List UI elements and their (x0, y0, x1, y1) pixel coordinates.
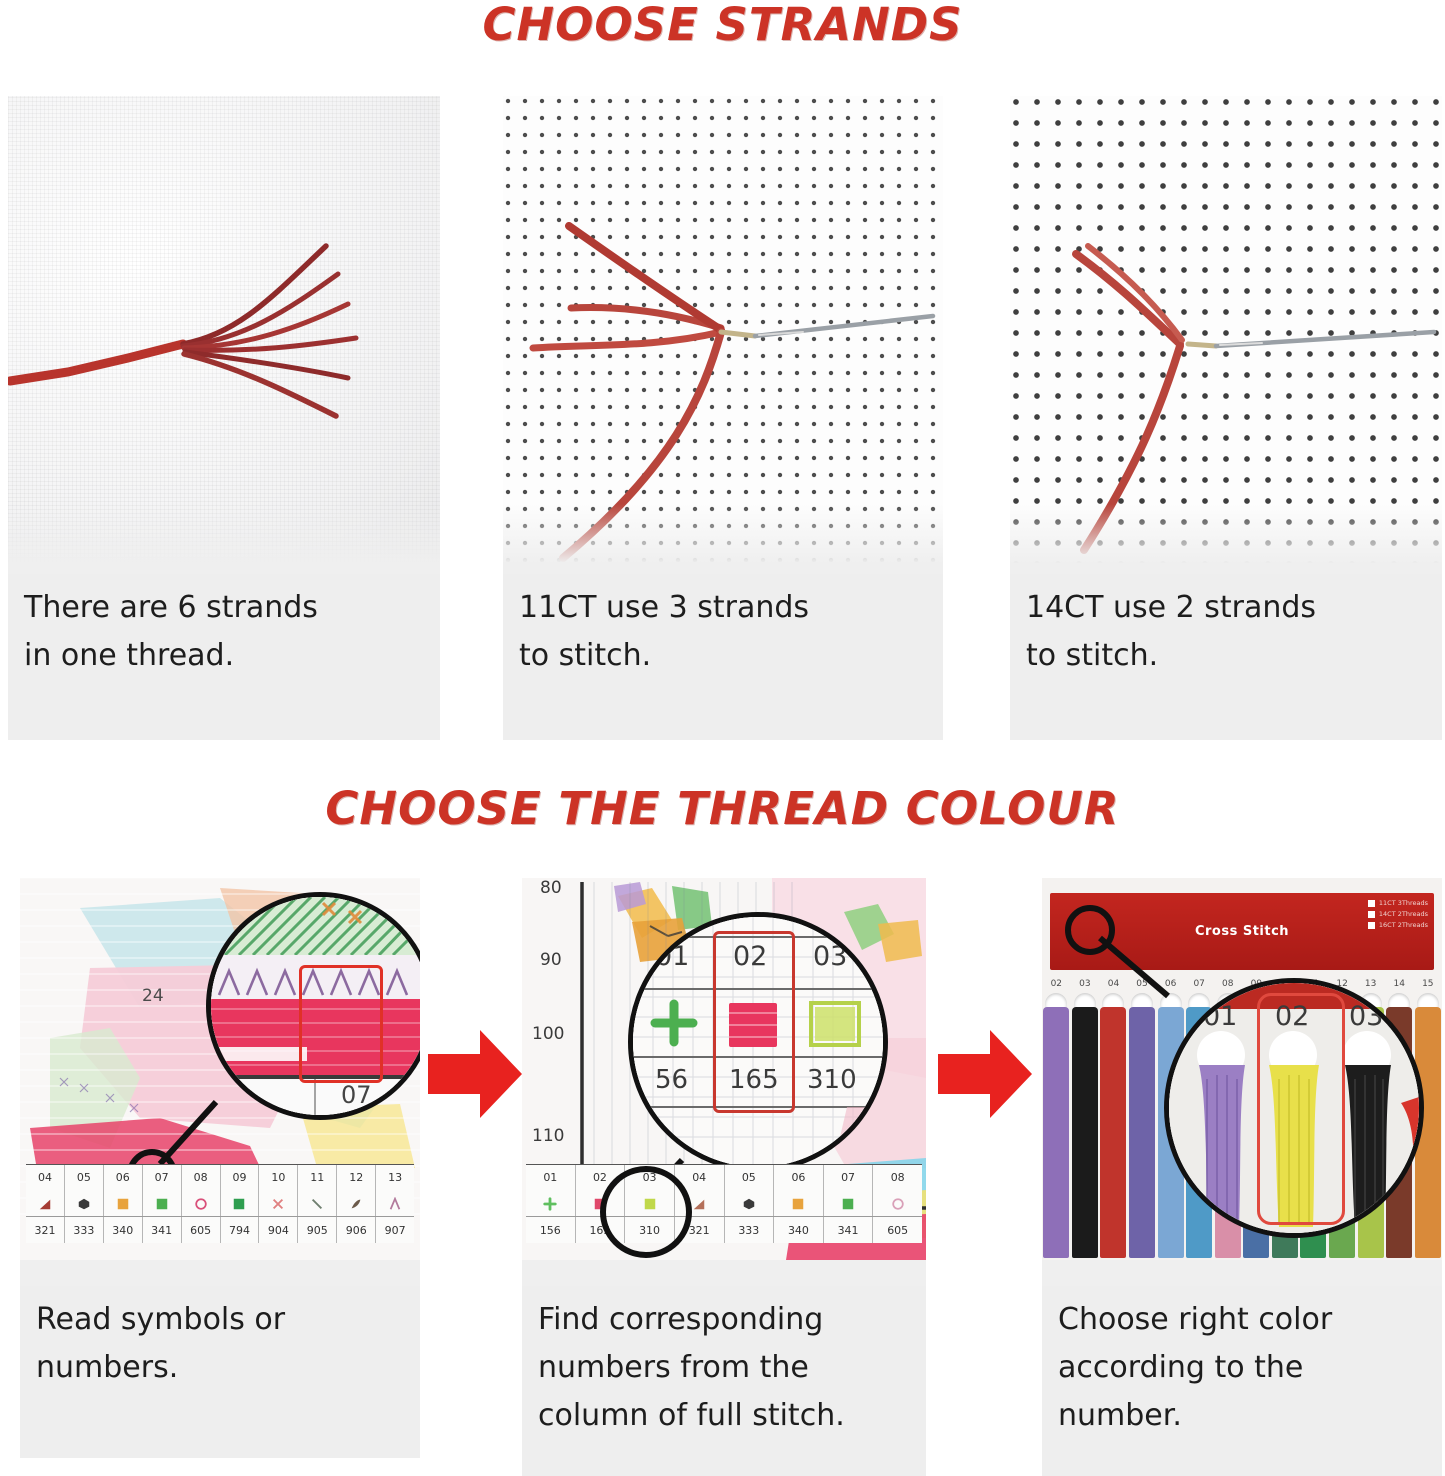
legend-column-number: 01 (526, 1165, 576, 1191)
caption-find-numbers: Find corresponding numbers from the colu… (522, 1286, 926, 1476)
magnified-col-03: 03 (813, 941, 847, 972)
legend-symbol-cell (337, 1191, 376, 1217)
thread-skein (1129, 1007, 1155, 1258)
legend-dmc-number: 605 (873, 1217, 922, 1243)
card-choose-color: Cross Stitch 11CT 3Threads 14CT 2Threads (1042, 878, 1442, 1476)
legend-symbol-cell (26, 1191, 65, 1217)
legend-symbol-cell (376, 1191, 414, 1217)
legend-symbol-row (26, 1191, 414, 1217)
photo-fade (8, 504, 440, 574)
square-icon (791, 1197, 805, 1211)
card-read-symbols: 24 02 (20, 878, 420, 1458)
legend-symbol-cell (526, 1191, 576, 1217)
symbol-legend-middle: 0102030405060708 15616531032133334034160… (526, 1164, 922, 1243)
card-11ct: 11CT use 3 strands to stitch. (503, 96, 943, 740)
legend-column-number: 08 (182, 1165, 221, 1191)
square-icon (155, 1197, 169, 1211)
slash-icon (310, 1197, 324, 1211)
magnified-hook-01: 01 (1203, 1001, 1237, 1032)
three-strands-needle-illustration (503, 96, 943, 574)
magnified-dmc-56: 56 (655, 1065, 688, 1095)
photo-fade (1010, 504, 1442, 574)
cross-x-icon (271, 1197, 285, 1211)
legend-header-row-middle: 0102030405060708 (526, 1165, 922, 1191)
six-strands-illustration (8, 96, 440, 574)
legend-dmc-number: 904 (259, 1217, 298, 1243)
legend-column-number: 08 (873, 1165, 922, 1191)
hexagon-icon (742, 1197, 756, 1211)
thread-hook-number: 04 (1099, 979, 1128, 989)
legend-column-number: 06 (104, 1165, 143, 1191)
legend-dmc-number: 794 (221, 1217, 260, 1243)
legend-dmc-number: 340 (774, 1217, 824, 1243)
magnified-col-01: 01 (655, 941, 689, 972)
chart-row-label-100: 100 (532, 1024, 564, 1044)
thread-hook-number: 05 (1128, 979, 1157, 989)
legend-symbol-cell (824, 1191, 874, 1217)
triangle-icon (692, 1197, 706, 1211)
photo-thread-box: Cross Stitch 11CT 3Threads 14CT 2Threads (1042, 878, 1442, 1260)
legend-column-number: 09 (221, 1165, 260, 1191)
caption-six-strands: There are 6 strands in one thread. (8, 574, 440, 740)
thread-hook: 02 (1042, 977, 1071, 1260)
thread-skein (1100, 1007, 1126, 1258)
checklist-item: 11CT 3Threads (1368, 899, 1428, 907)
legend-column-number: 05 (65, 1165, 104, 1191)
heading-choose-thread-colour: CHOOSE THE THREAD COLOUR (0, 782, 1445, 835)
magnified-dmc-310: 310 (807, 1065, 857, 1095)
thread-box-title: Cross Stitch (1195, 924, 1289, 939)
legend-symbol-cell (221, 1191, 260, 1217)
legend-column-number: 07 (143, 1165, 182, 1191)
legend-column-number: 10 (259, 1165, 298, 1191)
photo-fade (503, 504, 943, 574)
legend-dmc-number: 321 (26, 1217, 65, 1243)
thread-skein (1043, 1007, 1069, 1258)
triangle-icon (38, 1197, 52, 1211)
circle-icon (891, 1197, 905, 1211)
legend-column-number: 12 (337, 1165, 376, 1191)
magnified-highlight-box (299, 965, 383, 1083)
magnifier-lens-threads: 01 02 03 (1164, 978, 1424, 1238)
caption-choose-color: Choose right color according to the numb… (1042, 1286, 1442, 1476)
chart-row-label-80: 80 (540, 878, 562, 898)
two-strands-needle-illustration (1010, 96, 1442, 574)
thread-hook-number: 03 (1071, 979, 1100, 989)
legend-symbol-cell (104, 1191, 143, 1217)
caption-read-symbols: Read symbols or numbers. (20, 1286, 420, 1458)
magnified-hook-highlight (1257, 993, 1345, 1225)
magnified-hook-03: 03 (1349, 1001, 1383, 1032)
magnified-cell-number: 07 (341, 1081, 372, 1109)
arrow-step-1-to-2 (428, 1028, 522, 1120)
legend-symbol-cell (725, 1191, 775, 1217)
photo-aida-14ct (1010, 96, 1442, 574)
heading-choose-strands: CHOOSE STRANDS (0, 0, 1445, 51)
legend-symbol-row-middle (526, 1191, 922, 1217)
thread-box-header: Cross Stitch 11CT 3Threads 14CT 2Threads (1050, 893, 1434, 969)
legend-dmc-number: 156 (526, 1217, 576, 1243)
legend-dmc-number: 605 (182, 1217, 221, 1243)
card-find-numbers: 80 90 100 110 (522, 878, 926, 1476)
thread-box-checklist: 11CT 3Threads 14CT 2Threads 16CT 2Thread… (1368, 899, 1428, 932)
thread-hook: 03 (1071, 977, 1100, 1260)
arrow-step-2-to-3 (938, 1028, 1032, 1120)
legend-symbol-cell (259, 1191, 298, 1217)
legend-column-number: 04 (26, 1165, 65, 1191)
thread-skein (1072, 1007, 1098, 1258)
legend-dmc-number: 907 (376, 1217, 414, 1243)
legend-dmc-number: 333 (65, 1217, 104, 1243)
chart-row-label-90: 90 (540, 950, 562, 970)
legend-symbol-cell (182, 1191, 221, 1217)
legend-column-number: 06 (774, 1165, 824, 1191)
square-icon (841, 1197, 855, 1211)
legend-header-row: 04050607080910111213 (26, 1165, 414, 1191)
circle-icon (194, 1197, 208, 1211)
legend-symbol-cell (65, 1191, 104, 1217)
magnified-column-highlight (713, 931, 795, 1113)
checkbox-icon (1368, 900, 1375, 907)
legend-column-number: 13 (376, 1165, 414, 1191)
legend-symbol-cell (774, 1191, 824, 1217)
checklist-label: 11CT 3Threads (1379, 899, 1428, 907)
card-six-strands: There are 6 strands in one thread. (8, 96, 440, 740)
plus-icon (543, 1197, 557, 1211)
legend-symbol-cell (298, 1191, 337, 1217)
hexagon-icon (77, 1197, 91, 1211)
symbol-legend-left: 04050607080910111213 3213333403416057949… (26, 1164, 414, 1243)
thread-hook-number: 02 (1042, 979, 1071, 989)
chevron-icon (388, 1197, 402, 1211)
checkbox-icon (1368, 922, 1375, 929)
checklist-item: 16CT 2Threads (1368, 921, 1428, 929)
legend-column-number: 11 (298, 1165, 337, 1191)
card-14ct: 14CT use 2 strands to stitch. (1010, 96, 1442, 740)
magnifier-lens-symbols: 07 (206, 892, 420, 1120)
legend-circle-highlight (600, 1166, 692, 1258)
square-icon (116, 1197, 130, 1211)
legend-dmc-number: 333 (725, 1217, 775, 1243)
legend-dmc-row: 321333340341605794904905906907 (26, 1216, 414, 1243)
checklist-label: 14CT 2Threads (1379, 910, 1428, 918)
photo-aida-11ct (503, 96, 943, 574)
legend-dmc-number: 906 (337, 1217, 376, 1243)
legend-column-number: 07 (824, 1165, 874, 1191)
magnifier-lens-numbers: 01 02 03 56 165 310 (628, 912, 888, 1172)
leaf-icon (349, 1197, 363, 1211)
caption-14ct: 14CT use 2 strands to stitch. (1010, 574, 1442, 740)
square-icon (232, 1197, 246, 1211)
legend-dmc-number: 341 (824, 1217, 874, 1243)
legend-symbol-cell (143, 1191, 182, 1217)
chart-row-label-110: 110 (532, 1126, 564, 1146)
chart-cell-number: 24 (142, 986, 164, 1006)
legend-dmc-number: 341 (143, 1217, 182, 1243)
thread-hook: 04 (1099, 977, 1128, 1260)
checkbox-icon (1368, 911, 1375, 918)
legend-dmc-number: 340 (104, 1217, 143, 1243)
photo-plain-fabric (8, 96, 440, 574)
legend-dmc-number: 905 (298, 1217, 337, 1243)
thread-hook: 05 (1128, 977, 1157, 1260)
legend-column-number: 05 (725, 1165, 775, 1191)
checklist-label: 16CT 2Threads (1379, 921, 1428, 929)
caption-11ct: 11CT use 3 strands to stitch. (503, 574, 943, 740)
legend-dmc-row-middle: 156165310321333340341605 (526, 1216, 922, 1243)
infographic-page: CHOOSE STRANDS There are 6 strands in on… (0, 0, 1445, 1476)
legend-symbol-cell (873, 1191, 922, 1217)
checklist-item: 14CT 2Threads (1368, 910, 1428, 918)
